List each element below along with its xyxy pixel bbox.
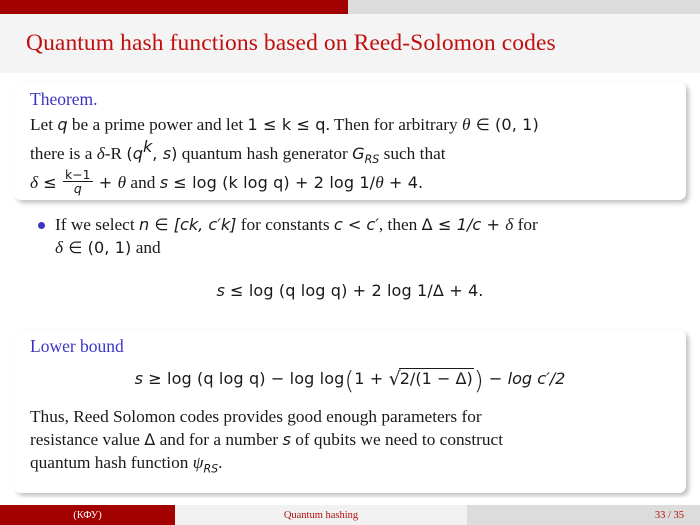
lb-text-e: .: [218, 453, 222, 472]
condition-k-range: 1 ≤ k ≤ q: [248, 115, 326, 134]
title-band: Quantum hash functions based on Reed-Sol…: [0, 14, 700, 73]
theorem-block: Theorem. Let q be a prime power and let …: [14, 82, 686, 200]
lb-symbol-minus-2: −: [484, 369, 508, 388]
lb-paren-open: (: [344, 366, 354, 395]
symbol-plus-2: +: [481, 215, 505, 234]
theorem-text-c: . Then for arbitrary: [326, 115, 462, 134]
var-theta: θ: [462, 115, 471, 134]
subscript-RS: RS: [365, 153, 380, 166]
header-bar: [0, 0, 700, 14]
lb-log-q-log-q: log (q log q): [167, 369, 266, 388]
var-n: n: [139, 215, 149, 234]
constants-c-cprime: c < c′: [334, 215, 379, 234]
theorem-text-b: be a prime power and let: [68, 115, 248, 134]
eq-var-delta-capital: Δ: [433, 281, 444, 300]
lb-symbol-minus-1: −: [266, 369, 290, 388]
var-delta-4: δ: [55, 238, 63, 257]
theorem-line-3: δ ≤ k−1q + θ and s ≤ log (k log q) + 2 l…: [30, 168, 670, 195]
eq-2-log-1-over: 2 log 1/: [371, 281, 432, 300]
theorem-text-h: and: [126, 173, 160, 192]
interval-ck: [ck, c′k]: [174, 215, 237, 234]
var-delta-capital: Δ: [422, 215, 433, 234]
centered-equation: s ≤ log (q log q) + 2 log 1/Δ + 4.: [0, 281, 700, 301]
subscript-RS-2: RS: [203, 462, 218, 475]
bullet-text-b: for constants: [236, 215, 333, 234]
lb-text-d: quantum hash function: [30, 453, 193, 472]
symbol-in: ∈: [471, 115, 496, 134]
bullet-list: If we select n ∈ [ck, c′k] for constants…: [14, 213, 686, 260]
theorem-title: Theorem.: [30, 89, 670, 111]
eq-symbol-plus: +: [347, 281, 371, 300]
lb-text-a: resistance value: [30, 430, 144, 449]
symbol-leq: ≤: [38, 173, 62, 192]
lower-bound-para-line-1: Thus, Reed Solomon codes provides good e…: [30, 405, 670, 428]
exponent-k: k: [143, 137, 152, 156]
var-q-2: q: [133, 144, 143, 163]
var-theta-3: θ: [375, 173, 384, 192]
symbol-in-2: ∈: [149, 215, 174, 234]
theorem-text-a: Let: [30, 115, 57, 134]
var-G: G: [352, 144, 364, 163]
constant-4: + 4.: [384, 173, 424, 192]
var-delta: δ: [97, 144, 105, 163]
bullet-item-text: If we select n ∈ [ck, c′k] for constants…: [55, 213, 686, 260]
var-psi: ψ: [193, 453, 204, 472]
lb-var-s: s: [135, 369, 143, 388]
eq-constant-4: + 4.: [444, 281, 484, 300]
eq-log-q-log-q: log (q log q): [249, 281, 348, 300]
comma: ,: [152, 144, 162, 163]
lb-one-plus: 1 +: [354, 369, 388, 388]
bullet-text-a: If we select: [55, 215, 139, 234]
fraction-numerator: k−1: [63, 168, 93, 181]
lb-symbol-geq: ≥: [143, 369, 167, 388]
lb-log-log: log log: [290, 369, 345, 388]
symbol-in-3: ∈: [63, 238, 88, 257]
var-q: q: [57, 115, 67, 134]
interval-0-1: (0, 1): [495, 115, 539, 134]
lower-bound-equation: s ≥ log (q log q) − log log(1 + √2/(1 − …: [30, 366, 670, 395]
slide-body: Theorem. Let q be a prime power and let …: [0, 73, 700, 498]
bound-1-over-c: 1/c: [457, 215, 482, 234]
footer-page-number: 33 / 35: [467, 505, 700, 525]
footer-author: (КФУ): [0, 505, 175, 525]
page-title: Quantum hash functions based on Reed-Sol…: [26, 30, 556, 57]
lb-text-c: of qubits we need to construct: [291, 430, 503, 449]
theorem-text-g: such that: [379, 144, 445, 163]
log-term-1: log (k log q): [192, 173, 290, 192]
list-item: If we select n ∈ [ck, c′k] for constants…: [14, 213, 686, 260]
fraction-k-minus-1-over-q: k−1q: [63, 168, 93, 195]
lb-square-root: √2/(1 − Δ): [389, 368, 474, 390]
theorem-text-e: -R: [105, 144, 127, 163]
footer-bar: (КФУ) Quantum hashing 33 / 35: [0, 505, 700, 525]
log-term-2: + 2 log 1/: [290, 173, 375, 192]
lower-bound-block: Lower bound s ≥ log (q log q) − log log(…: [14, 330, 686, 493]
bullet-dot-icon: [38, 222, 45, 229]
lb-log-cprime-over-2: log c′/2: [508, 369, 566, 388]
theorem-line-1: Let q be a prime power and let 1 ≤ k ≤ q…: [30, 113, 670, 136]
lower-bound-title: Lower bound: [30, 336, 670, 358]
symbol-leq-3: ≤: [433, 215, 457, 234]
var-theta-2: θ: [118, 173, 127, 192]
symbol-leq-2: ≤: [168, 173, 192, 192]
var-delta-2: δ: [30, 173, 38, 192]
symbol-plus: +: [94, 173, 118, 192]
var-s: s: [163, 144, 171, 163]
theorem-text-d: there is a: [30, 144, 97, 163]
bullet-text-d: for: [513, 215, 537, 234]
footer-gap: [0, 498, 700, 505]
bullet-text-e: and: [131, 238, 160, 257]
lb-radicand: 2/(1 − Δ): [399, 368, 474, 388]
var-s-2: s: [160, 173, 168, 192]
lb-text-b: and for a number: [155, 430, 282, 449]
lb-var-delta-capital: Δ: [144, 430, 155, 449]
eq-var-s: s: [216, 281, 224, 300]
theorem-text-f: quantum hash generator: [177, 144, 352, 163]
header-bar-right-segment: [348, 0, 700, 14]
fraction-denominator: q: [63, 181, 93, 195]
lb-paren-close: ): [474, 366, 484, 395]
header-bar-left-segment: [0, 0, 348, 14]
footer-presentation-title: Quantum hashing: [175, 505, 467, 525]
theorem-line-2: there is a δ-R (qk, s) quantum hash gene…: [30, 136, 670, 168]
eq-symbol-leq: ≤: [225, 281, 249, 300]
lower-bound-para-line-2: resistance value Δ and for a number s of…: [30, 428, 670, 451]
interval-0-1-b: (0, 1): [88, 238, 132, 257]
lower-bound-para-line-3: quantum hash function ψRS.: [30, 451, 670, 477]
lb-var-s-2: s: [282, 430, 290, 449]
bullet-text-c: , then: [379, 215, 422, 234]
slide: Quantum hash functions based on Reed-Sol…: [0, 0, 700, 525]
